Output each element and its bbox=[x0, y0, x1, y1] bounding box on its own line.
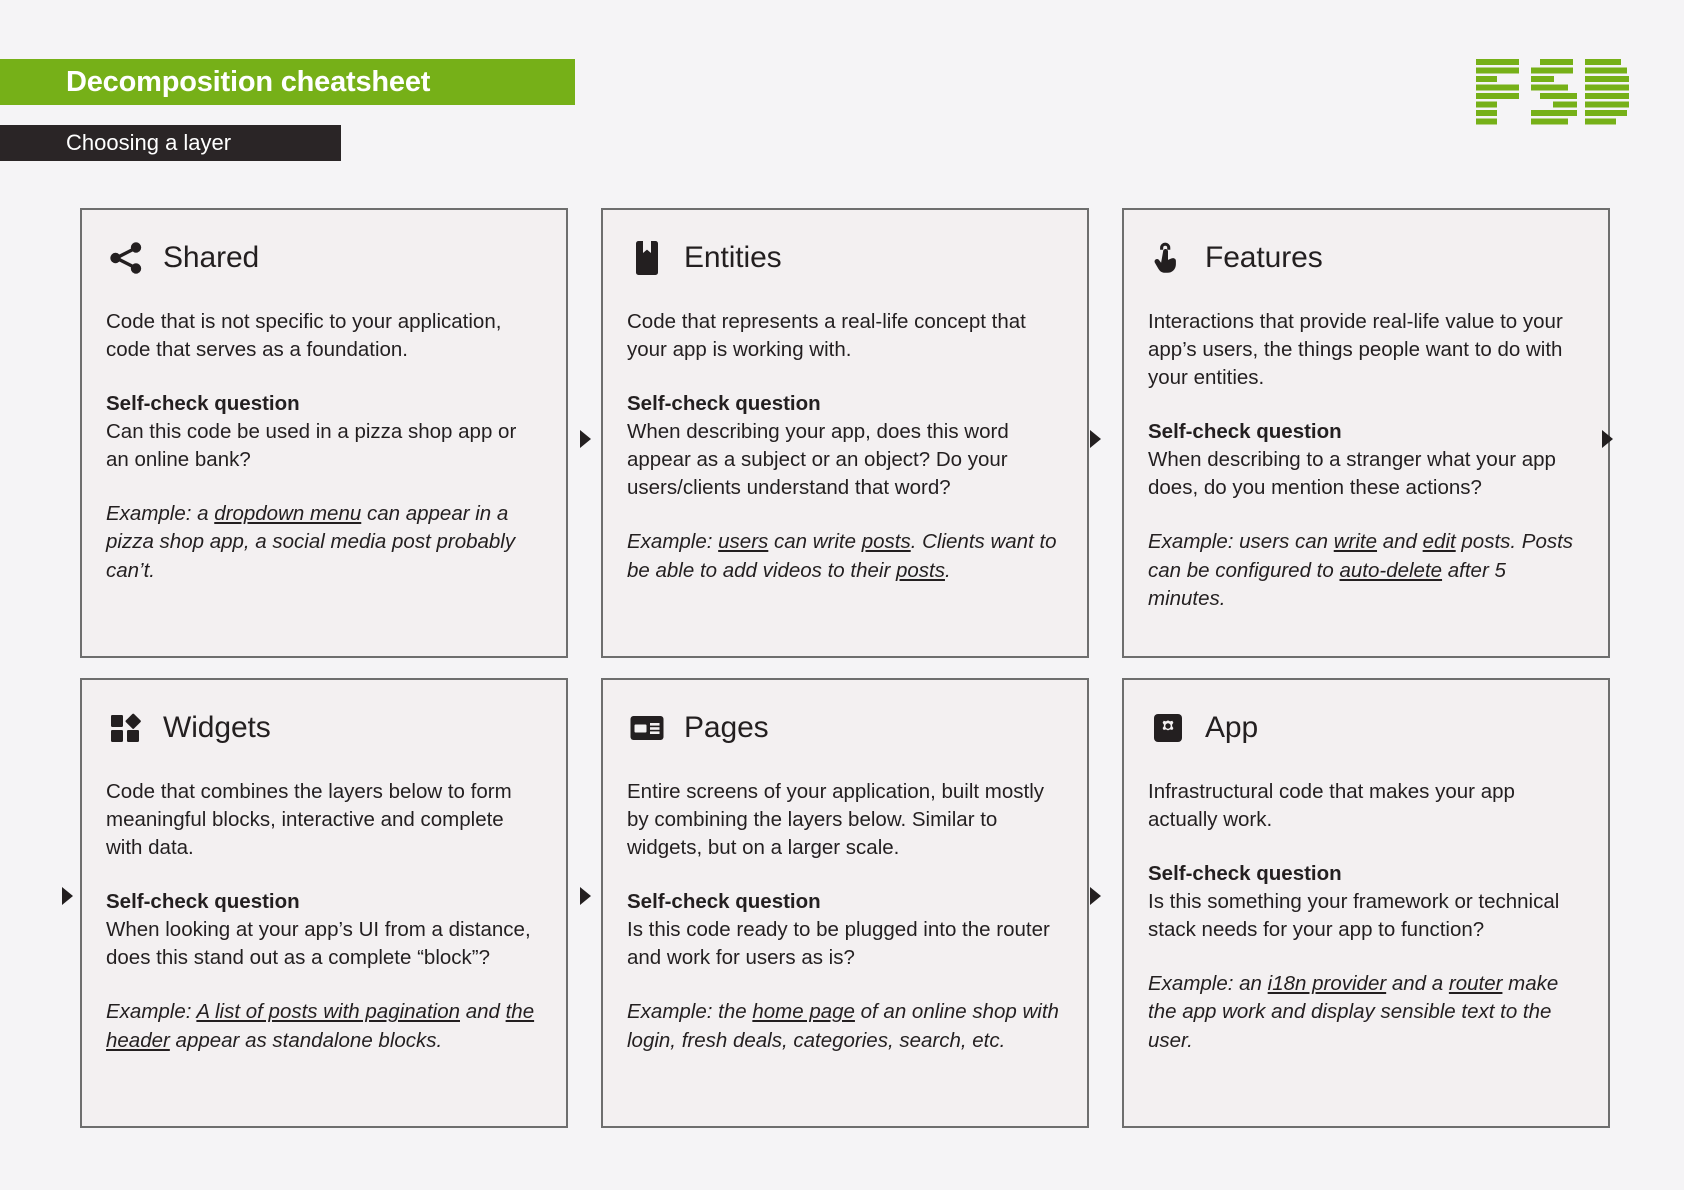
self-check-text-entities: When describing your app, does this word… bbox=[627, 418, 1063, 502]
flow-arrow-into-widgets bbox=[62, 887, 73, 905]
card-title-entities: Entities bbox=[684, 243, 782, 273]
example-keyword: auto-delete bbox=[1339, 559, 1442, 582]
example-keyword: home page bbox=[752, 1000, 855, 1023]
self-check-text-pages: Is this code ready to be plugged into th… bbox=[627, 916, 1063, 972]
share-icon bbox=[106, 238, 146, 278]
card-title-app: App bbox=[1205, 713, 1258, 743]
card-example-features: Example: users can write and edit posts.… bbox=[1148, 528, 1584, 612]
card-description-entities: Code that represents a real-life concept… bbox=[627, 308, 1063, 364]
example-keyword: users bbox=[718, 530, 768, 553]
card-description-app: Infrastructural code that makes your app… bbox=[1148, 778, 1584, 834]
card-shared: Shared Code that is not specific to your… bbox=[80, 208, 568, 658]
card-widgets: Widgets Code that combines the layers be… bbox=[80, 678, 568, 1128]
example-keyword: edit bbox=[1423, 530, 1456, 553]
card-title-shared: Shared bbox=[163, 243, 259, 273]
example-keyword: i18n provider bbox=[1268, 972, 1387, 995]
page-subtitle: Choosing a layer bbox=[0, 130, 231, 156]
example-text: Example: users can bbox=[1148, 530, 1334, 553]
example-keyword: posts bbox=[896, 559, 945, 582]
example-text: appear as standalone blocks. bbox=[170, 1029, 442, 1052]
card-example-entities: Example: users can write posts. Clients … bbox=[627, 528, 1063, 584]
example-keyword: write bbox=[1334, 530, 1377, 553]
self-check-label-pages: Self-check question bbox=[627, 888, 1063, 916]
card-example-pages: Example: the home page of an online shop… bbox=[627, 998, 1063, 1054]
card-title-pages: Pages bbox=[684, 713, 769, 743]
example-text: and bbox=[460, 1000, 506, 1023]
self-check-label-entities: Self-check question bbox=[627, 390, 1063, 418]
example-keyword: A list of posts with pagination bbox=[196, 1000, 460, 1023]
self-check-text-app: Is this something your framework or tech… bbox=[1148, 888, 1584, 944]
card-header-features: Features bbox=[1148, 236, 1584, 280]
card-app: App Infrastructural code that makes your… bbox=[1122, 678, 1610, 1128]
self-check-label-features: Self-check question bbox=[1148, 418, 1584, 446]
example-keyword: posts bbox=[862, 530, 911, 553]
example-keyword: router bbox=[1449, 972, 1503, 995]
card-header-pages: Pages bbox=[627, 706, 1063, 750]
flow-arrow-features-to-next bbox=[1602, 430, 1613, 448]
fsd-logo bbox=[1474, 58, 1629, 126]
self-check-label-app: Self-check question bbox=[1148, 860, 1584, 888]
fsd-logo-icon bbox=[1474, 58, 1629, 126]
book-bookmark-icon bbox=[627, 238, 667, 278]
card-header-entities: Entities bbox=[627, 236, 1063, 280]
page-title: Decomposition cheatsheet bbox=[0, 66, 430, 99]
card-description-features: Interactions that provide real-life valu… bbox=[1148, 308, 1584, 392]
example-keyword: dropdown menu bbox=[214, 502, 361, 525]
self-check-text-features: When describing to a stranger what your … bbox=[1148, 446, 1584, 502]
example-text: Example: an bbox=[1148, 972, 1268, 995]
card-example-widgets: Example: A list of posts with pagination… bbox=[106, 998, 542, 1054]
card-description-pages: Entire screens of your application, buil… bbox=[627, 778, 1063, 862]
example-text: . bbox=[945, 559, 951, 582]
page-layout-icon bbox=[627, 708, 667, 748]
card-description-shared: Code that is not specific to your applic… bbox=[106, 308, 542, 364]
widgets-blocks-icon bbox=[106, 708, 146, 748]
title-banner: Decomposition cheatsheet bbox=[0, 59, 575, 105]
card-title-features: Features bbox=[1205, 243, 1323, 273]
example-text: Example: a bbox=[106, 502, 214, 525]
self-check-text-widgets: When looking at your app’s UI from a dis… bbox=[106, 916, 542, 972]
card-entities: Entities Code that represents a real-lif… bbox=[601, 208, 1089, 658]
self-check-text-shared: Can this code be used in a pizza shop ap… bbox=[106, 418, 542, 474]
example-text: Example: the bbox=[627, 1000, 752, 1023]
example-text: and bbox=[1377, 530, 1423, 553]
card-title-widgets: Widgets bbox=[163, 713, 271, 743]
card-example-shared: Example: a dropdown menu can appear in a… bbox=[106, 500, 542, 584]
example-text: Example: bbox=[106, 1000, 196, 1023]
gear-square-icon bbox=[1148, 708, 1188, 748]
page-header: Decomposition cheatsheet Choosing a laye… bbox=[0, 0, 1684, 175]
self-check-label-widgets: Self-check question bbox=[106, 888, 542, 916]
self-check-label-shared: Self-check question bbox=[106, 390, 542, 418]
card-pages: Pages Entire screens of your application… bbox=[601, 678, 1089, 1128]
tap-hand-icon bbox=[1148, 238, 1188, 278]
card-header-shared: Shared bbox=[106, 236, 542, 280]
flow-arrow-pages-to-app bbox=[1090, 887, 1101, 905]
flow-arrow-widgets-to-pages bbox=[580, 887, 591, 905]
card-features: Features Interactions that provide real-… bbox=[1122, 208, 1610, 658]
layers-grid: Shared Code that is not specific to your… bbox=[80, 208, 1610, 1128]
subtitle-banner: Choosing a layer bbox=[0, 125, 341, 161]
example-text: can write bbox=[768, 530, 861, 553]
card-header-app: App bbox=[1148, 706, 1584, 750]
example-text: and a bbox=[1386, 972, 1449, 995]
flow-arrow-entities-to-features bbox=[1090, 430, 1101, 448]
card-header-widgets: Widgets bbox=[106, 706, 542, 750]
card-description-widgets: Code that combines the layers below to f… bbox=[106, 778, 542, 862]
flow-arrow-shared-to-entities bbox=[580, 430, 591, 448]
card-example-app: Example: an i18n provider and a router m… bbox=[1148, 970, 1584, 1054]
example-text: Example: bbox=[627, 530, 718, 553]
